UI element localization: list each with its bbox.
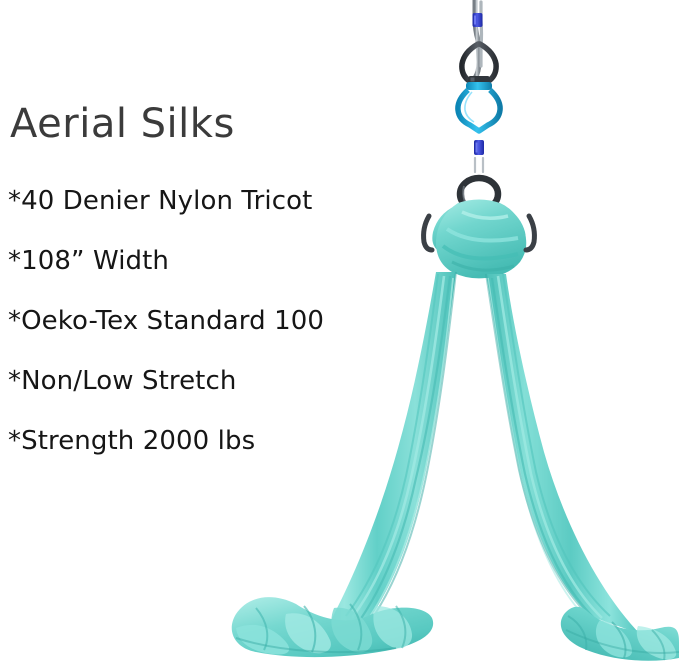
silk-tail-right: [486, 274, 640, 634]
silk-tail-left: [320, 272, 456, 640]
fabric-pool-left: [232, 597, 433, 657]
product-image-canvas: Aerial Silks *40 Denier Nylon Tricot *10…: [0, 0, 679, 663]
rigging-hardware: [458, 0, 500, 210]
knot-clip-right: [526, 216, 534, 250]
knot-clip-left: [424, 216, 432, 250]
aerial-silks-photo: [200, 0, 679, 663]
top-carabiner-icon: [473, 0, 483, 78]
larks-head-knot: [424, 200, 535, 279]
lower-connector-icon: [474, 128, 484, 178]
blue-carabiner-icon: [458, 82, 500, 131]
